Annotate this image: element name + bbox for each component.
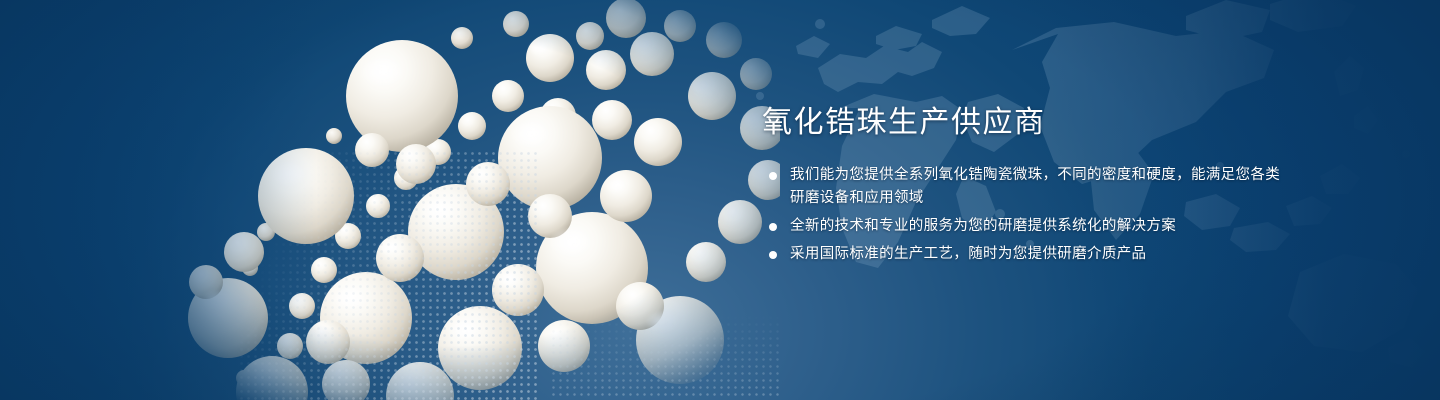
banner-bullet-text: 全新的技术和专业的服务为您的研磨提供系统化的解决方案: [790, 218, 1176, 234]
banner-headline: 氧化锆珠生产供应商: [762, 104, 1282, 142]
banner-bullet-item: 我们能为您提供全系列氧化锆陶瓷微珠，不同的密度和硬度，能满足您各类研磨设备和应用…: [762, 164, 1282, 210]
bullet-dot-icon: [769, 223, 777, 231]
banner-copy: 氧化锆珠生产供应商 我们能为您提供全系列氧化锆陶瓷微珠，不同的密度和硬度，能满足…: [762, 104, 1282, 266]
banner-bullet-list: 我们能为您提供全系列氧化锆陶瓷微珠，不同的密度和硬度，能满足您各类研磨设备和应用…: [762, 164, 1282, 266]
hero-banner: 氧化锆珠生产供应商 我们能为您提供全系列氧化锆陶瓷微珠，不同的密度和硬度，能满足…: [0, 0, 1440, 400]
banner-bullet-text: 我们能为您提供全系列氧化锆陶瓷微珠，不同的密度和硬度，能满足您各类研磨设备和应用…: [790, 167, 1280, 206]
banner-bullet-text: 采用国际标准的生产工艺，随时为您提供研磨介质产品: [790, 246, 1146, 262]
bullet-dot-icon: [769, 172, 777, 180]
banner-bullet-item: 采用国际标准的生产工艺，随时为您提供研磨介质产品: [762, 243, 1282, 266]
bullet-dot-icon: [769, 251, 777, 259]
banner-bullet-item: 全新的技术和专业的服务为您的研磨提供系统化的解决方案: [762, 215, 1282, 238]
